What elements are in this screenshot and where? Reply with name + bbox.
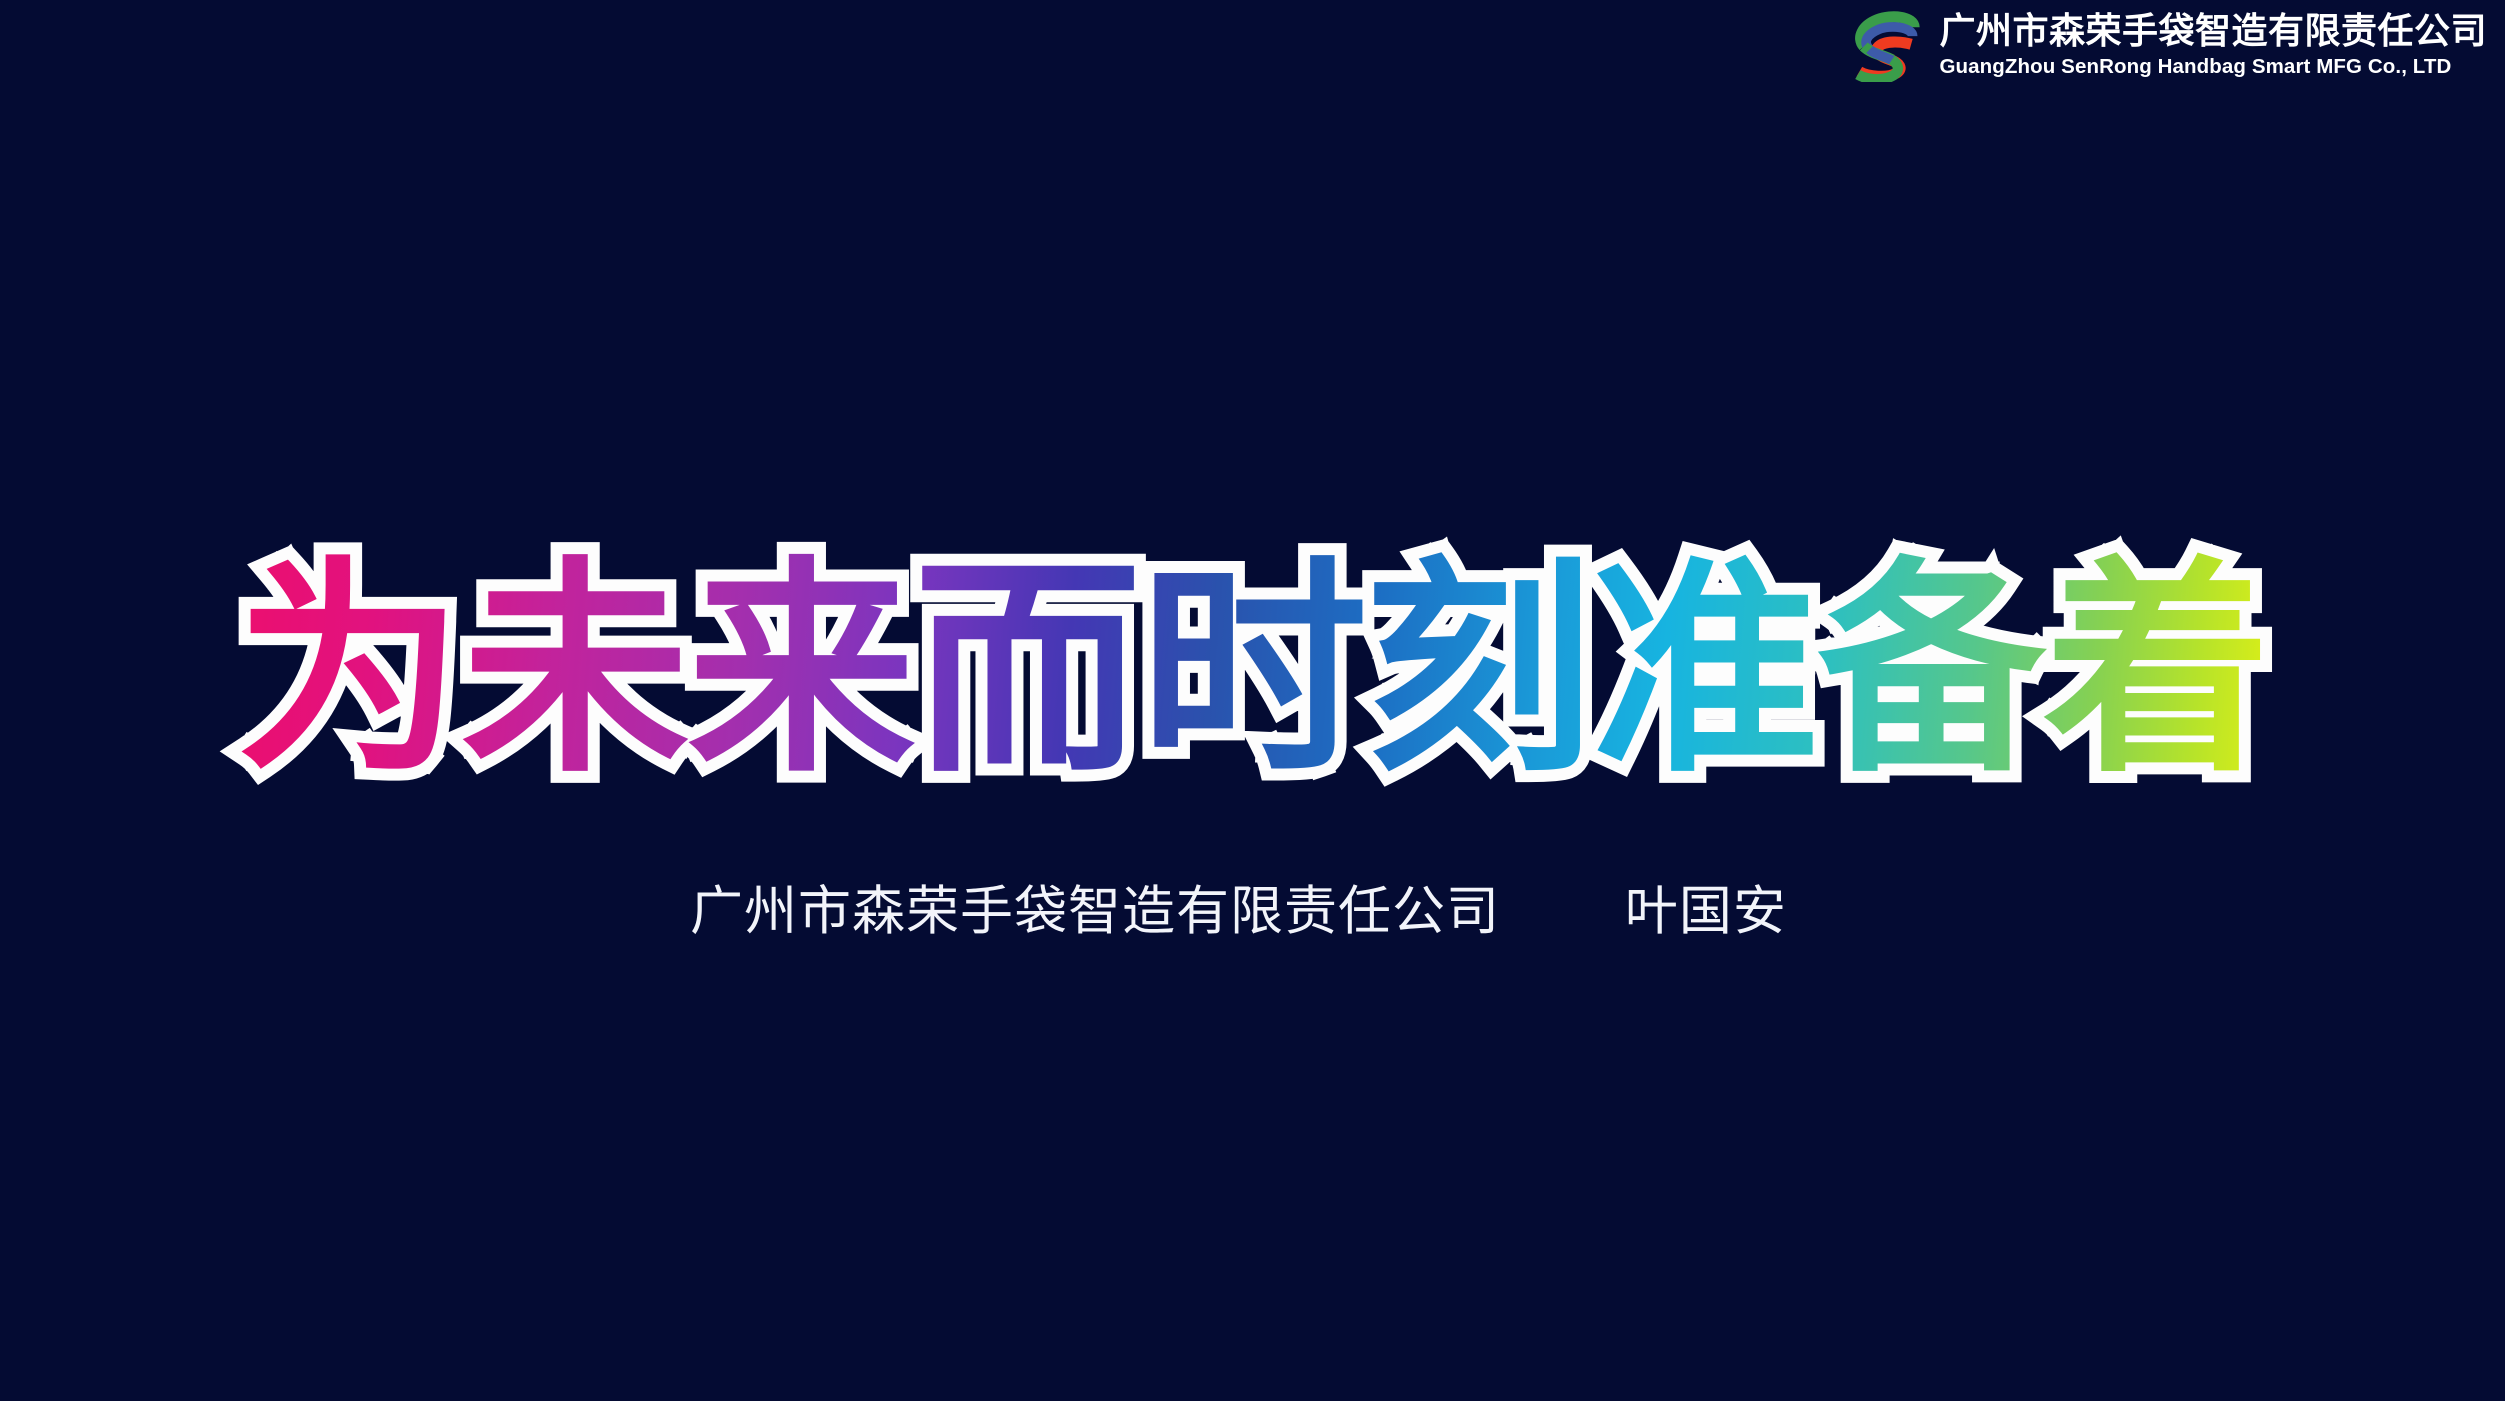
brand-lockup: 广州市森荣手袋智造有限责任公司 GuangZhou SenRong Handba…: [1849, 8, 2487, 82]
slide-subtitle: 广州市森荣手袋智造有限责任公司 叶国安: [690, 880, 1787, 944]
brand-name-cn: 广州市森荣手袋智造有限责任公司: [1939, 11, 2487, 51]
brand-text-block: 广州市森荣手袋智造有限责任公司 GuangZhou SenRong Handba…: [1939, 11, 2487, 79]
headline-gradient-text: 为未来而时刻准备着: [236, 537, 2270, 803]
brand-name-en: GuangZhou SenRong Handbag Smart MFG Co.,…: [1939, 56, 2451, 79]
presentation-slide: 广州市森荣手袋智造有限责任公司 GuangZhou SenRong Handba…: [0, 0, 2505, 1401]
senrong-s-ribbon-logo-icon: [1849, 8, 1923, 82]
slide-headline: 为未来而时刻准备着 为未来而时刻准备着: [236, 556, 2270, 784]
headline-container: 为未来而时刻准备着 为未来而时刻准备着: [0, 540, 2505, 800]
